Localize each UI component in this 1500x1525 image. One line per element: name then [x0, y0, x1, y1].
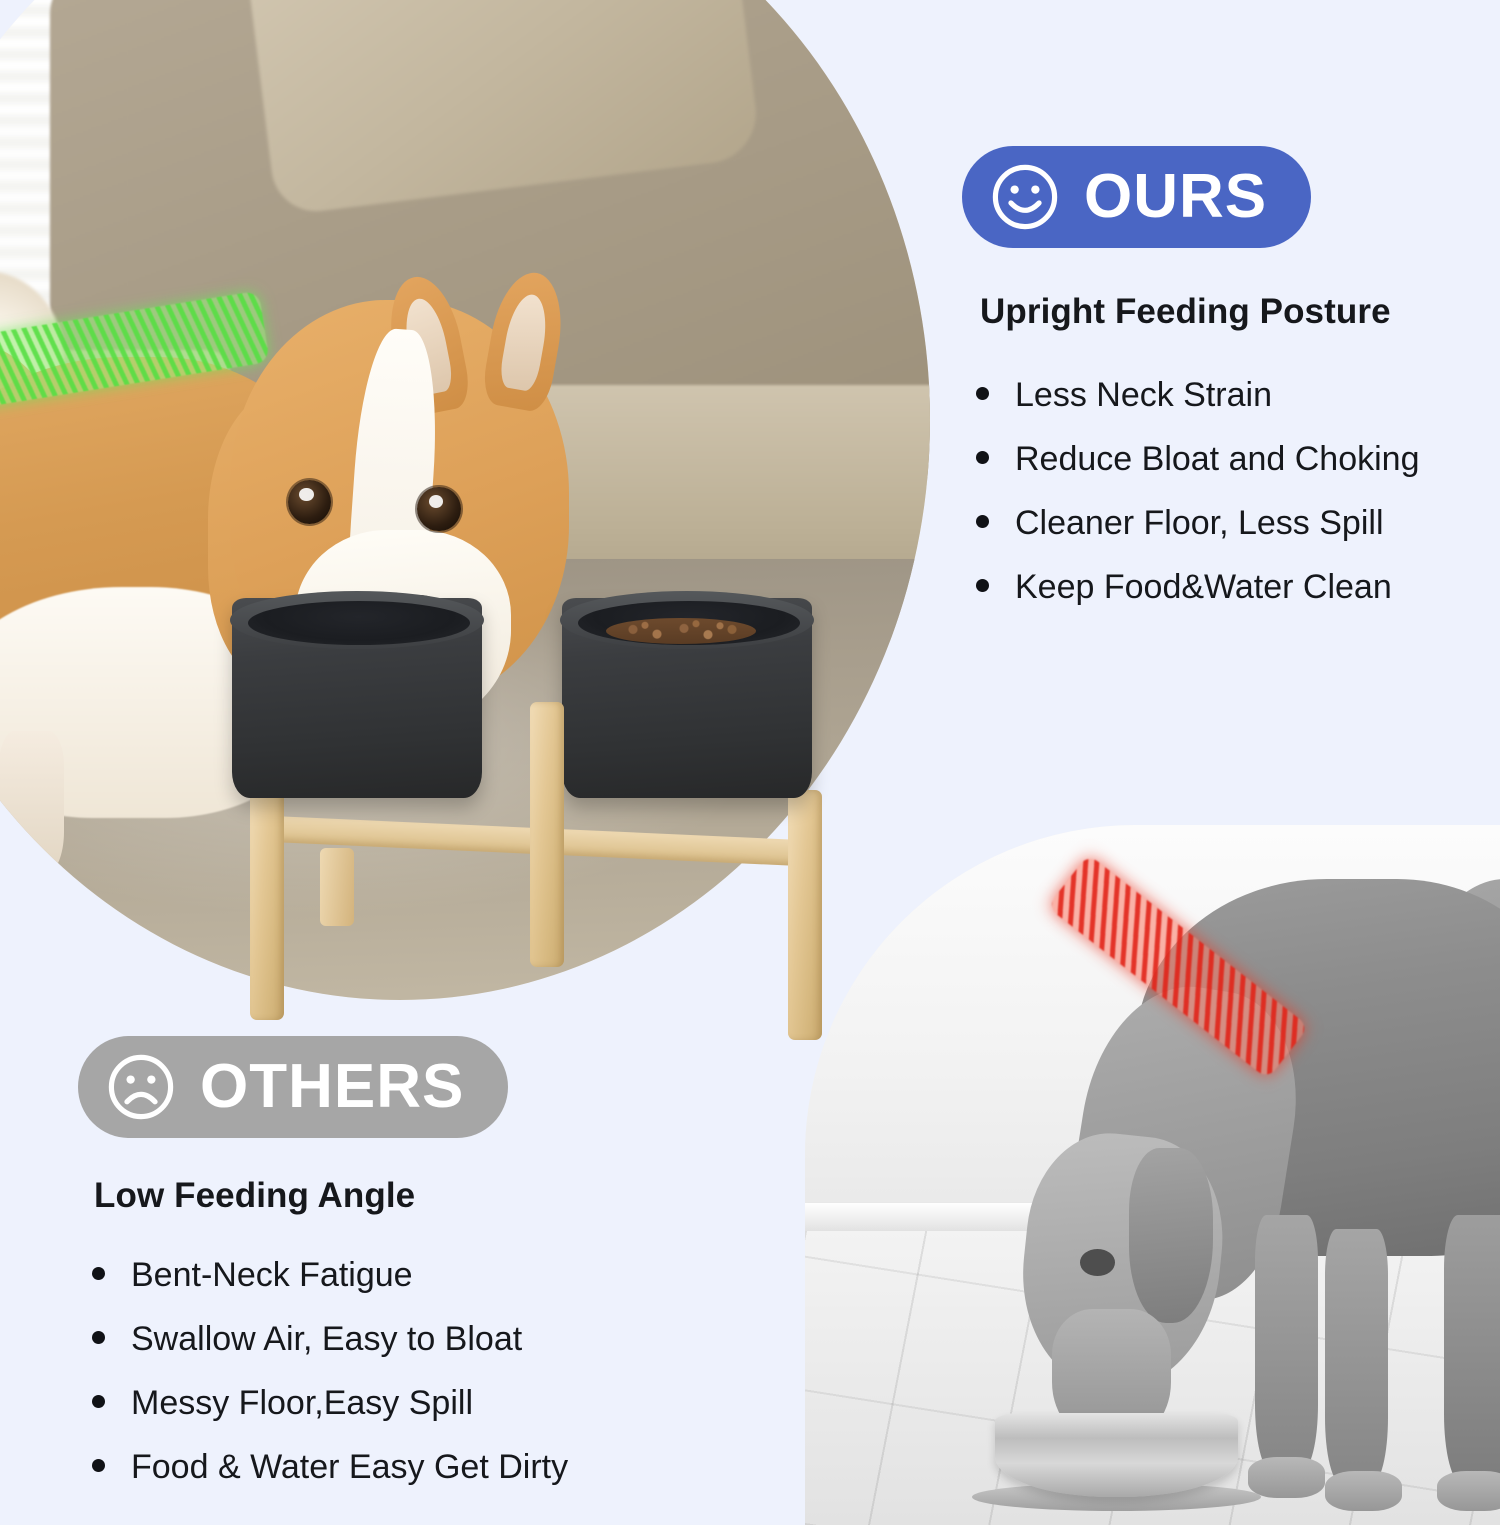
- badge-ours: OURS: [962, 146, 1311, 248]
- list-item: Messy Floor,Easy Spill: [92, 1386, 568, 1420]
- badge-others-label: OTHERS: [200, 1056, 464, 1118]
- bullet-icon: [92, 1395, 105, 1408]
- list-item-label: Bent-Neck Fatigue: [131, 1258, 413, 1292]
- bullet-icon: [92, 1331, 105, 1344]
- bullet-icon: [976, 515, 989, 528]
- list-item-label: Messy Floor,Easy Spill: [131, 1386, 473, 1420]
- dog-hind-leg: [1444, 1215, 1500, 1484]
- corgi-eye-right: [417, 487, 460, 532]
- bamboo-leg-center: [530, 702, 564, 967]
- others-heading: Low Feeding Angle: [94, 1176, 415, 1216]
- bullet-icon: [976, 387, 989, 400]
- list-item: Swallow Air, Easy to Bloat: [92, 1322, 568, 1356]
- bullet-icon: [976, 451, 989, 464]
- badge-others: OTHERS: [78, 1036, 508, 1138]
- list-item-label: Reduce Bloat and Choking: [1015, 442, 1420, 476]
- list-item-label: Less Neck Strain: [1015, 378, 1272, 412]
- dog-ear: [1129, 1148, 1213, 1323]
- kibble-food: [606, 618, 756, 644]
- corgi-front-leg: [0, 731, 64, 875]
- dog-eye: [1080, 1249, 1115, 1276]
- list-item: Reduce Bloat and Choking: [976, 442, 1420, 476]
- elevated-dog-bowl-stand: [232, 590, 852, 990]
- bamboo-short-brace: [320, 848, 354, 926]
- ours-benefit-list: Less Neck Strain Reduce Bloat and Chokin…: [976, 378, 1420, 634]
- list-item-label: Keep Food&Water Clean: [1015, 570, 1392, 604]
- sad-face-icon: [104, 1050, 178, 1124]
- dog-paw: [1437, 1471, 1500, 1511]
- list-item: Bent-Neck Fatigue: [92, 1258, 568, 1292]
- photo-others-low-feeding: [805, 825, 1500, 1525]
- list-item: Less Neck Strain: [976, 378, 1420, 412]
- list-item: Food & Water Easy Get Dirty: [92, 1450, 568, 1484]
- corgi-ear-right: [479, 267, 569, 414]
- stainless-steel-floor-bowl: [995, 1413, 1238, 1497]
- badge-ours-label: OURS: [1084, 166, 1267, 228]
- bullet-icon: [92, 1459, 105, 1472]
- dog-front-leg: [1255, 1215, 1318, 1470]
- list-item: Cleaner Floor, Less Spill: [976, 506, 1420, 540]
- smiley-face-icon: [988, 160, 1062, 234]
- dog-front-leg: [1325, 1229, 1388, 1484]
- list-item: Keep Food&Water Clean: [976, 570, 1420, 604]
- bullet-icon: [976, 579, 989, 592]
- bamboo-leg-left: [250, 780, 284, 1020]
- grayscale-dog: [927, 839, 1500, 1511]
- list-item-label: Swallow Air, Easy to Bloat: [131, 1322, 522, 1356]
- list-item-label: Cleaner Floor, Less Spill: [1015, 506, 1384, 540]
- bowl-interior: [248, 601, 470, 645]
- bullet-icon: [92, 1267, 105, 1280]
- dog-paw: [1248, 1457, 1325, 1497]
- ceramic-bowl-water: [232, 598, 482, 798]
- corgi-eye-left: [288, 480, 331, 525]
- list-item-label: Food & Water Easy Get Dirty: [131, 1450, 568, 1484]
- ours-heading: Upright Feeding Posture: [980, 292, 1391, 332]
- ceramic-bowl-food: [562, 598, 812, 798]
- dog-paw: [1325, 1471, 1402, 1511]
- others-drawback-list: Bent-Neck Fatigue Swallow Air, Easy to B…: [92, 1258, 568, 1514]
- infographic-canvas: OURS Upright Feeding Posture Less Neck S…: [0, 0, 1500, 1500]
